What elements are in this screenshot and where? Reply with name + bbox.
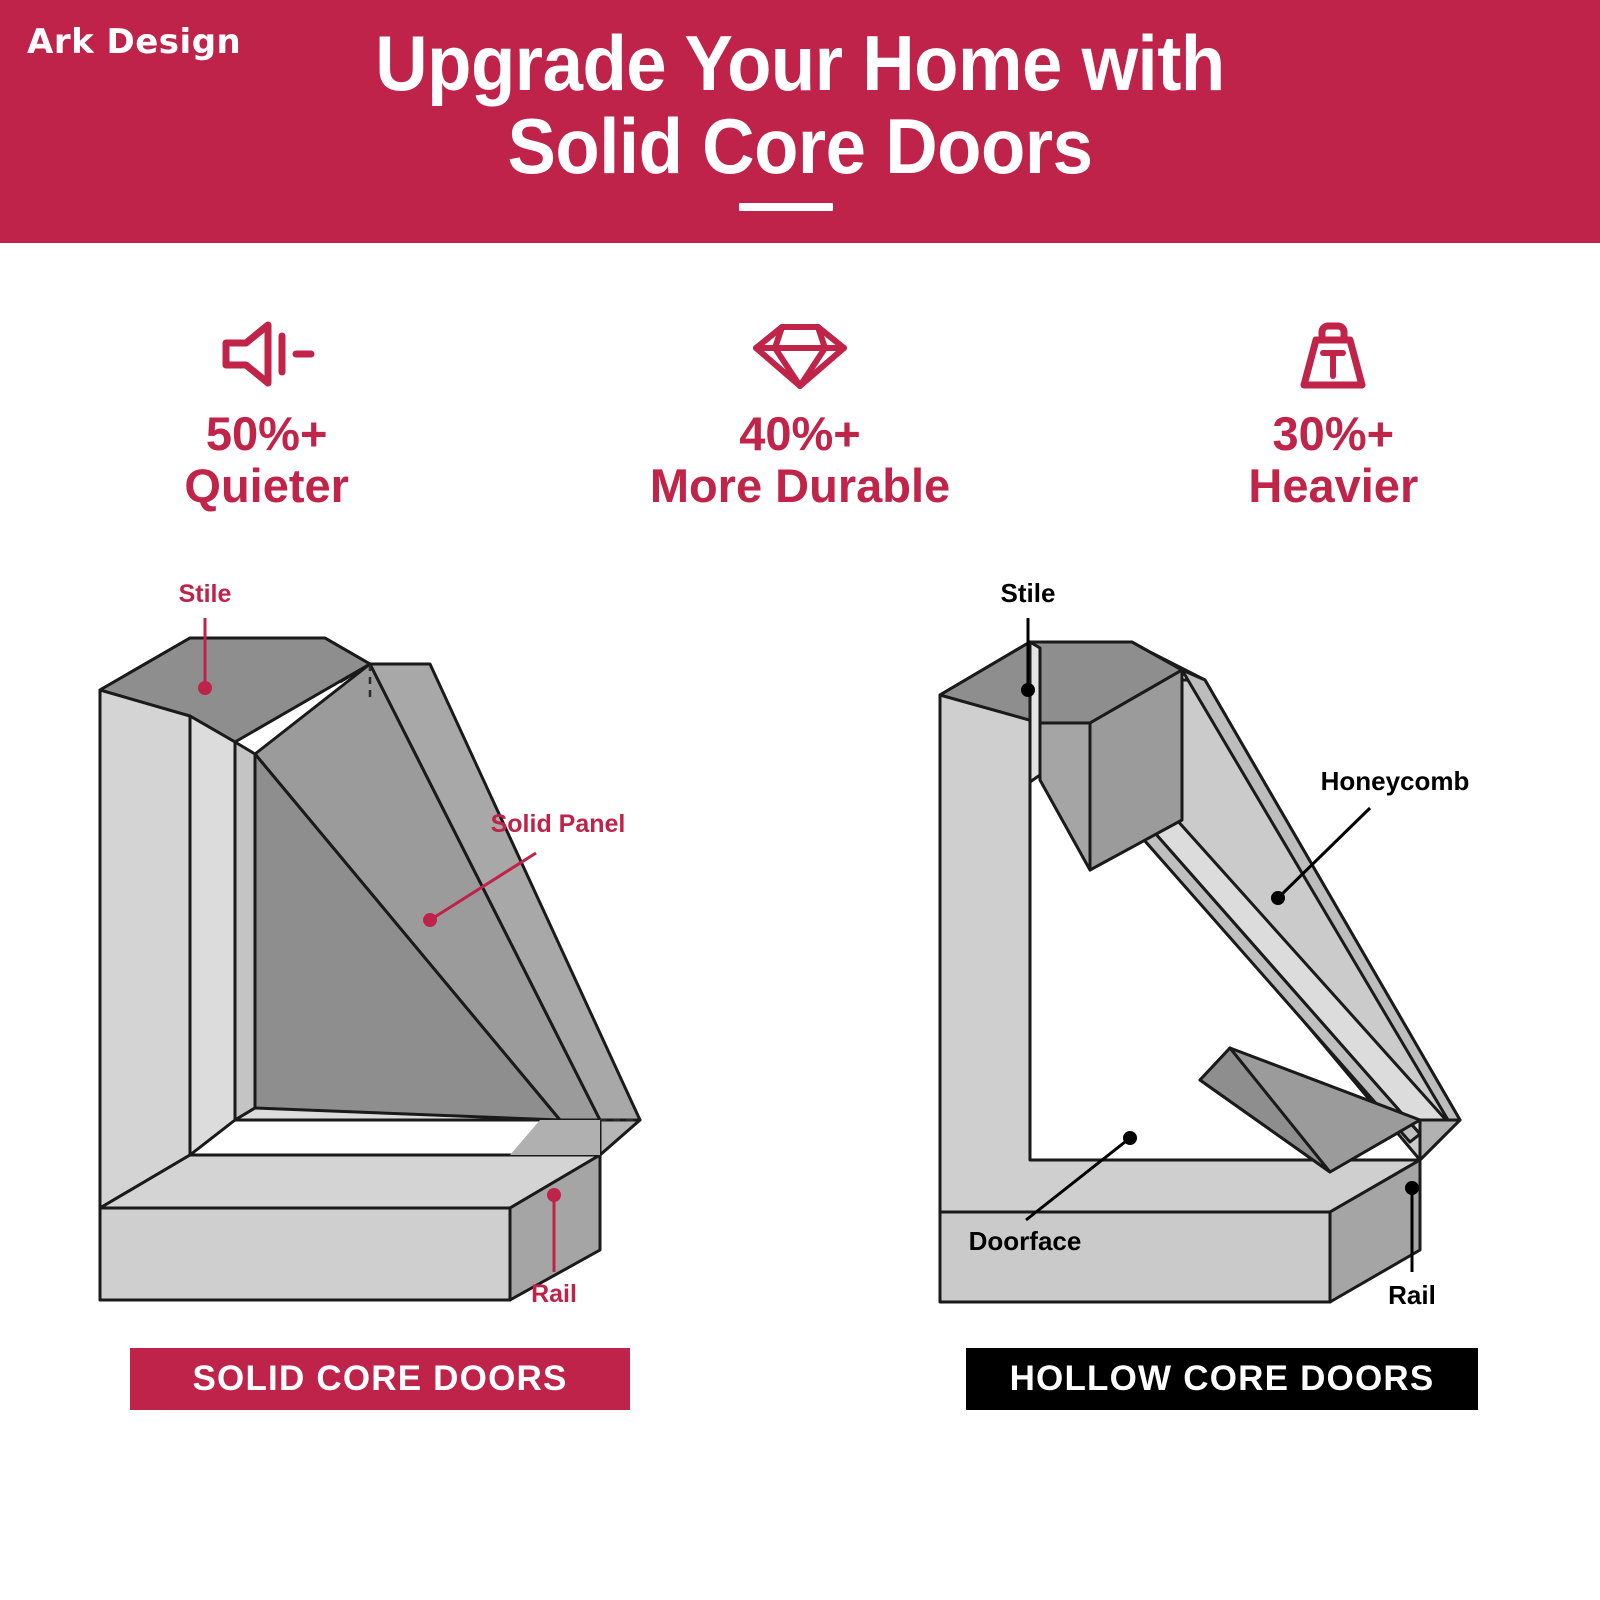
feature-durable: 40%+ More Durable xyxy=(533,318,1066,538)
feature-quieter: 50%+ Quieter xyxy=(0,318,533,538)
feature-quieter-text: 50%+ Quieter xyxy=(184,408,349,512)
weight-icon xyxy=(1278,318,1388,390)
feature-durable-percent: 40%+ xyxy=(650,408,950,460)
callout-label-honeycomb: Honeycomb xyxy=(1321,766,1470,796)
callout-label-doorface: Doorface xyxy=(969,1226,1082,1256)
callout-label-stile: Stile xyxy=(1001,578,1056,608)
callout-label-stile: Stile xyxy=(179,580,232,608)
hollow-core-doors-badge[interactable]: HOLLOW CORE DOORS xyxy=(966,1348,1478,1410)
title-underline-rule xyxy=(739,203,833,211)
hollow-core-door-illustration: Stile Honeycomb Doorface Rail xyxy=(900,560,1520,1350)
feature-heavier-caption: Heavier xyxy=(1248,460,1418,512)
callout-label-solid-panel: Solid Panel xyxy=(491,810,626,838)
feature-durable-text: 40%+ More Durable xyxy=(650,408,950,512)
diamond-icon xyxy=(745,318,855,390)
page-title: Upgrade Your Home with Solid Core Doors xyxy=(335,22,1265,188)
header-banner: Ark Design Upgrade Your Home with Solid … xyxy=(0,0,1600,243)
page-title-line-1: Upgrade Your Home with xyxy=(335,22,1265,105)
feature-heavier-text: 30%+ Heavier xyxy=(1248,408,1418,512)
feature-stats-row: 50%+ Quieter 40%+ M xyxy=(0,318,1600,538)
infographic-page: Ark Design Upgrade Your Home with Solid … xyxy=(0,0,1600,1600)
feature-heavier: 30%+ Heavier xyxy=(1067,318,1600,538)
feature-quieter-caption: Quieter xyxy=(184,460,349,512)
solid-core-door-illustration: Stile Solid Panel Rail xyxy=(80,560,700,1350)
feature-heavier-percent: 30%+ xyxy=(1248,408,1418,460)
brand-logo: Ark Design xyxy=(27,22,241,62)
solid-core-doors-badge[interactable]: SOLID CORE DOORS xyxy=(130,1348,630,1410)
speaker-volume-down-icon xyxy=(212,318,322,390)
feature-quieter-percent: 50%+ xyxy=(184,408,349,460)
door-diagrams: Stile Solid Panel Rail xyxy=(0,560,1600,1350)
page-title-line-2: Solid Core Doors xyxy=(335,105,1265,188)
callout-label-rail: Rail xyxy=(1388,1280,1436,1310)
callout-label-rail: Rail xyxy=(531,1280,577,1308)
feature-durable-caption: More Durable xyxy=(650,460,950,512)
